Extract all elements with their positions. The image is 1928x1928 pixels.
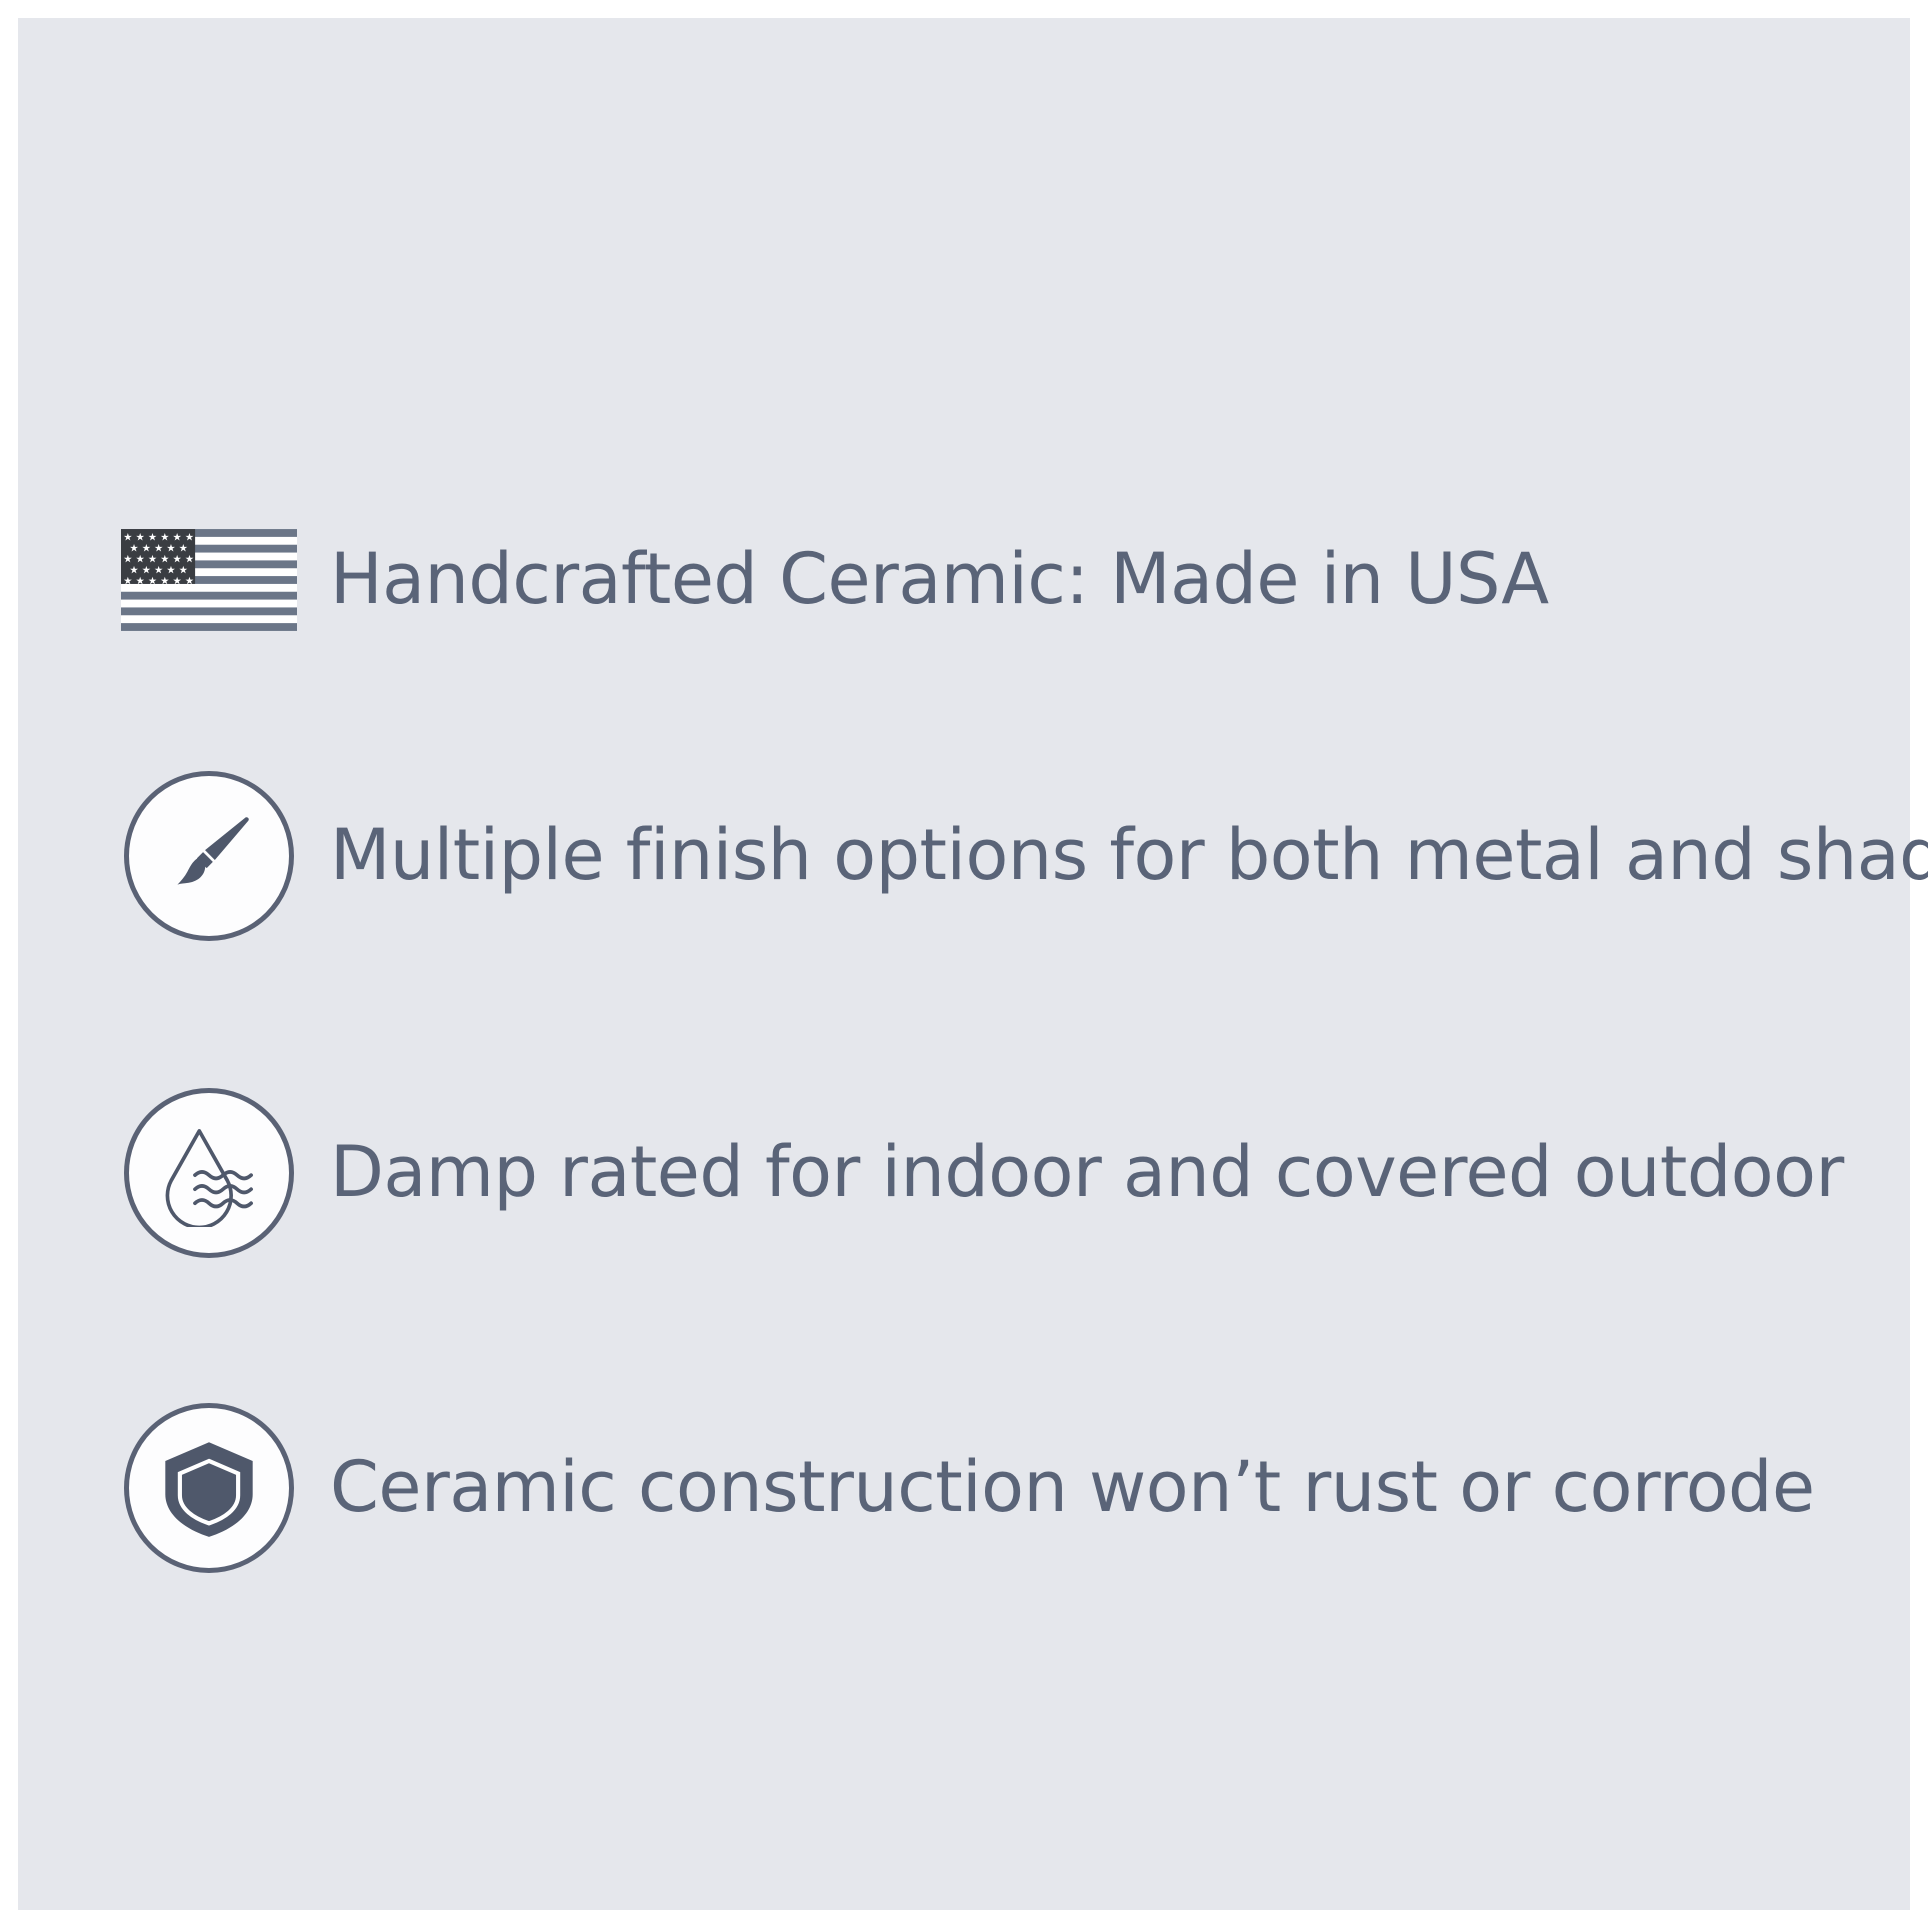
icon-circle xyxy=(124,1088,294,1258)
feature-label: Multiple finish options for both metal a… xyxy=(330,819,1928,893)
icon-slot xyxy=(88,1073,330,1273)
feature-label: Damp rated for indoor and covered outdoo… xyxy=(330,1136,1844,1210)
icon-slot xyxy=(88,756,330,956)
feature-row: Handcrafted Ceramic: Made in USA xyxy=(88,480,1888,680)
icon-slot xyxy=(88,480,330,680)
icon-circle xyxy=(124,771,294,941)
icon-circle xyxy=(124,1403,294,1573)
feature-list: Handcrafted Ceramic: Made in USA xyxy=(18,18,1910,1910)
icon-slot xyxy=(88,1388,330,1588)
feature-row: Ceramic construction won’t rust or corro… xyxy=(88,1388,1888,1588)
usa-flag-icon xyxy=(121,528,297,632)
paintbrush-icon xyxy=(157,804,261,908)
water-droplet-icon xyxy=(155,1119,263,1227)
feature-row: Multiple finish options for both metal a… xyxy=(88,756,1888,956)
feature-row: Damp rated for indoor and covered outdoo… xyxy=(88,1073,1888,1273)
feature-label: Handcrafted Ceramic: Made in USA xyxy=(330,543,1549,617)
feature-panel: Handcrafted Ceramic: Made in USA xyxy=(18,18,1910,1910)
feature-label: Ceramic construction won’t rust or corro… xyxy=(330,1451,1815,1525)
shield-icon xyxy=(157,1436,261,1540)
